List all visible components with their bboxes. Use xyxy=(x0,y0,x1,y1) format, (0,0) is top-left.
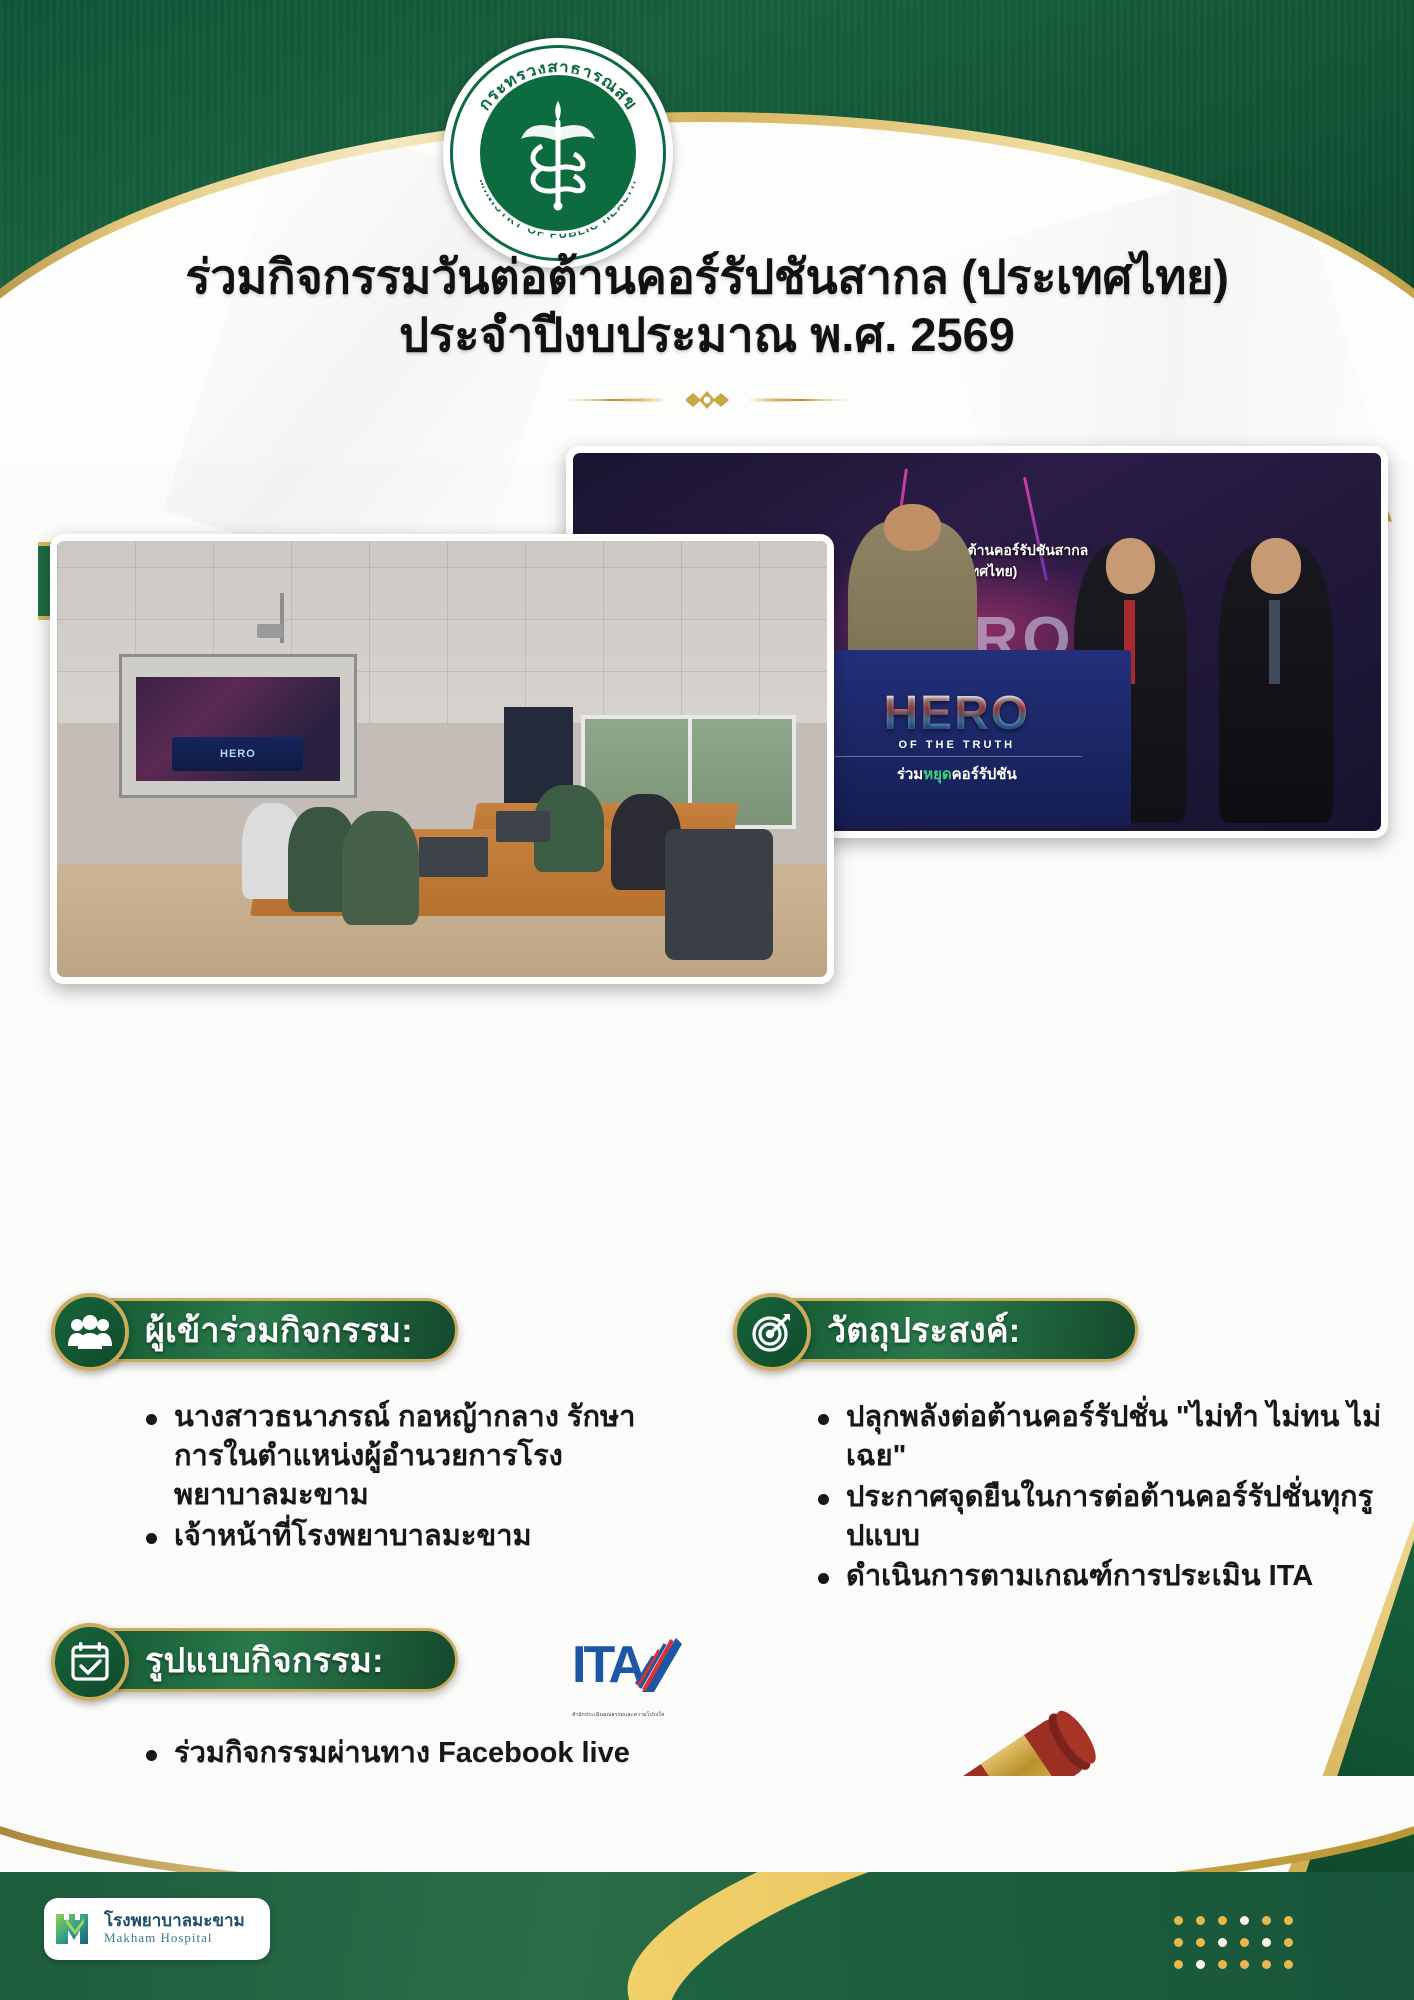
list-item: ปลุกพลังต่อต้านคอร์รัปชั่น "ไม่ทำ ไม่ทน … xyxy=(812,1398,1382,1476)
footer-dot xyxy=(1218,1916,1227,1925)
footer: โรงพยาบาลมะขาม Makham Hospital xyxy=(0,1872,1414,2000)
podium-thai-highlight: หยุด xyxy=(923,766,951,783)
footer-dot-grid xyxy=(1174,1916,1306,1982)
official-4 xyxy=(1219,544,1332,824)
caduceus-icon xyxy=(512,94,604,212)
footer-dot xyxy=(1240,1960,1249,1969)
footer-dot xyxy=(1240,1938,1249,1947)
footer-dot xyxy=(1218,1938,1227,1947)
attendee-3 xyxy=(342,811,419,924)
list-item: ประกาศจุดยืนในการต่อต้านคอร์รัปชั่นทุกรู… xyxy=(812,1478,1382,1556)
projected-hero-sign: HERO xyxy=(172,737,303,771)
podium-thai-prefix: ร่วม xyxy=(897,766,923,783)
footer-dot xyxy=(1284,1938,1293,1947)
laptop-1 xyxy=(419,837,488,876)
footer-dot xyxy=(1174,1916,1183,1925)
podium-rule xyxy=(832,756,1082,757)
podium-sign: HERO OF THE TRUTH ร่วมหยุดคอร์รัปชัน xyxy=(783,650,1130,828)
title-line-1: ร่วมกิจกรรมวันต่อต้านคอร์รัปชันสากล (ประ… xyxy=(0,248,1414,305)
list-participants: นางสาวธนาภรณ์ กอหญ้ากลาง รักษาการในตำแหน… xyxy=(140,1398,640,1557)
footer-dot xyxy=(1262,1938,1271,1947)
people-group-icon xyxy=(51,1293,129,1371)
list-item: ดำเนินการตามเกณฑ์การประเมิน ITA xyxy=(812,1557,1382,1596)
section-heading-objectives: วัตถุประสงค์: xyxy=(827,1303,1020,1357)
title-line-2: ประจำปีงบประมาณ พ.ศ. 2569 xyxy=(0,305,1414,364)
projection-screen: HERO xyxy=(119,654,358,798)
photo-meeting-room: HERO xyxy=(50,534,834,984)
footer-dot xyxy=(1174,1938,1183,1947)
list-item: นางสาวธนาภรณ์ กอหญ้ากลาง รักษาการในตำแหน… xyxy=(140,1398,640,1515)
podium-thai-slogan: ร่วมหยุดคอร์รัปชัน xyxy=(897,762,1017,786)
laptop-2 xyxy=(496,811,550,842)
hospital-name-thai: โรงพยาบาลมะขาม xyxy=(104,1912,245,1930)
office-chair xyxy=(665,829,773,960)
section-header-participants: ผู้เข้าร่วมกิจกรรม: xyxy=(66,1298,458,1362)
section-heading-participants: ผู้เข้าร่วมกิจกรรม: xyxy=(145,1303,413,1357)
footer-dot xyxy=(1262,1916,1271,1925)
footer-dot xyxy=(1262,1960,1271,1969)
podium-thai-suffix: คอร์รัปชัน xyxy=(952,766,1017,783)
ita-logo-icon: ITA xyxy=(572,1634,690,1704)
target-icon xyxy=(733,1293,811,1371)
gold-divider-ornament-icon xyxy=(557,388,857,412)
projector xyxy=(257,624,283,638)
poster-root: กระทรวงสาธารณสุข MINISTRY OF PUBLIC HEAL… xyxy=(0,0,1414,2000)
footer-dot xyxy=(1218,1960,1227,1969)
hospital-badge: โรงพยาบาลมะขาม Makham Hospital xyxy=(44,1898,270,1960)
seal-center-disc xyxy=(477,72,639,234)
ita-logo-subtitle: สำนักประเมินคุณธรรมและความโปร่งใส xyxy=(572,1711,690,1719)
section-header-objectives: วัตถุประสงค์: xyxy=(748,1298,1138,1362)
makham-hospital-m-logo-icon xyxy=(54,1908,96,1950)
room-background: HERO xyxy=(57,541,827,977)
list-item: เจ้าหน้าที่โรงพยาบาลมะขาม xyxy=(140,1517,640,1556)
projected-hero-text: HERO xyxy=(220,748,256,760)
footer-dot xyxy=(1196,1916,1205,1925)
ministry-seal: กระทรวงสาธารณสุข MINISTRY OF PUBLIC HEAL… xyxy=(443,38,673,268)
projected-image: HERO xyxy=(136,677,341,782)
list-objectives: ปลุกพลังต่อต้านคอร์รัปชั่น "ไม่ทำ ไม่ทน … xyxy=(812,1398,1382,1598)
footer-dot xyxy=(1174,1960,1183,1969)
podium-hero-title: HERO xyxy=(883,691,1030,737)
footer-dot xyxy=(1284,1916,1293,1925)
footer-dot xyxy=(1196,1960,1205,1969)
section-heading-format: รูปแบบกิจกรรม: xyxy=(145,1633,384,1687)
section-header-format: รูปแบบกิจกรรม: xyxy=(66,1628,458,1692)
podium-hero-subtitle: OF THE TRUTH xyxy=(898,739,1015,751)
hospital-name-english: Makham Hospital xyxy=(104,1930,245,1946)
footer-dot xyxy=(1196,1938,1205,1947)
footer-dot xyxy=(1284,1960,1293,1969)
hospital-names: โรงพยาบาลมะขาม Makham Hospital xyxy=(104,1912,245,1946)
ita-logo: ITA สำนักประเมินคุณธรรมและความโปร่งใส xyxy=(572,1634,690,1730)
footer-dot xyxy=(1240,1916,1249,1925)
calendar-check-icon xyxy=(51,1623,129,1701)
page-title: ร่วมกิจกรรมวันต่อต้านคอร์รัปชันสากล (ประ… xyxy=(0,248,1414,365)
ita-logo-text: ITA xyxy=(572,1636,645,1694)
